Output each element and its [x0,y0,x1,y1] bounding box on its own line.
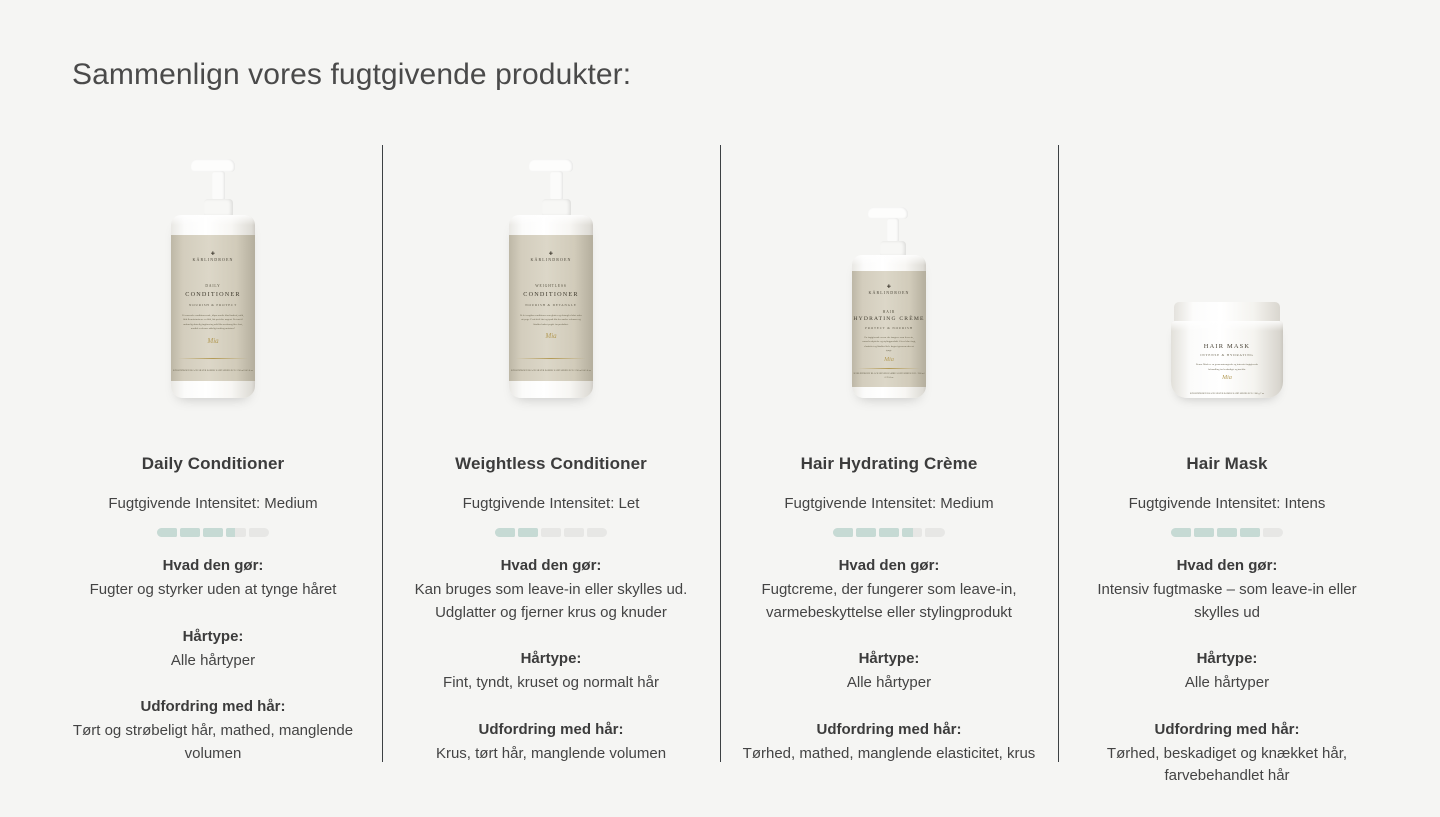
field-value: Alle hårtyper [1058,672,1396,695]
intensity-segment [564,528,584,537]
label-body-text: En fugtgivende creme der fungerer som le… [862,336,917,354]
field-label: Hvad den gør: [382,557,720,574]
intensity-segment [226,528,246,537]
field-value: Kan bruges som leave-in eller skylles ud… [382,579,720,624]
field-label: Hvad den gør: [44,557,382,574]
field-label: Hårtype: [720,650,1058,667]
label-footer: KÄRLINDROEN BLACK SILVER BAMBU SAND SERI… [509,370,593,374]
intensity-segment [1240,528,1260,537]
field-hair-type: Hårtype: Alle hårtyper [44,628,382,673]
field-hair-challenge: Udfordring med hår: Tørhed, mathed, mang… [720,721,1058,766]
intensity-segment [902,528,922,537]
label-body-text: Denne Mask er en gennemtrængende og inte… [1192,363,1261,372]
intensity-segment [879,528,899,537]
field-hair-challenge: Udfordring med hår: Tørt og strøbeligt h… [44,698,382,765]
intensity-text: Fugtgivende Intensitet: Let [463,495,640,512]
product-comparison-page: Sammenlign vores fugtgivende produkter: … [0,0,1440,817]
field-value: Alle hårtyper [720,672,1058,695]
label-line2: CONDITIONER [523,291,578,298]
product-column-hair-mask[interactable]: HAIR MASK INTENSE & HYDRATING Denne Mask… [1058,140,1396,788]
field-value: Fugtcreme, der fungerer som leave-in, va… [720,579,1058,624]
intensity-meter [1171,528,1283,537]
field-hair-challenge: Udfordring med hår: Krus, tørt hår, mang… [382,721,720,766]
field-what-it-does: Hvad den gør: Fugtcreme, der fungerer so… [720,557,1058,624]
product-column-daily-conditioner[interactable]: ✚ KÄRLINDROEN DAILY CONDITIONER NOURISH … [44,140,382,788]
intensity-segment [1263,528,1283,537]
column-divider [1058,145,1059,762]
field-label: Hvad den gør: [720,557,1058,574]
intensity-meter [157,528,269,537]
label-sub: NOURISH & PROTECT [189,303,237,307]
field-value: Tørhed, beskadiget og knækket hår, farve… [1058,743,1396,788]
intensity-segment [541,528,561,537]
intensity-segment [157,528,177,537]
label-line2: HYDRATING CRÈME [853,316,924,322]
label-line1: WEIGHTLESS [535,284,567,288]
field-hair-type: Hårtype: Alle hårtyper [720,650,1058,695]
column-divider [382,145,383,762]
label-body-text: Et let vægtløs conditioner som glatter o… [520,314,582,327]
field-hair-type: Hårtype: Fint, tyndt, kruset og normalt … [382,650,720,695]
intensity-segment [587,528,607,537]
label-signature: Mia [545,332,556,340]
field-label: Udfordring med hår: [382,721,720,738]
label-footer: KÄRLINDROEN BLACK SILVER BAMBU SAND SERI… [171,370,255,374]
intensity-segment [495,528,515,537]
label-signature: Mia [207,337,218,345]
intensity-segment [203,528,223,537]
page-title: Sammenlign vores fugtgivende produkter: [72,58,631,92]
label-footer: KÄRLINDROEN BLACK SILVER BAMBU SAND SERI… [1171,393,1283,397]
field-hair-challenge: Udfordring med hår: Tørhed, beskadiget o… [1058,721,1396,788]
product-image-hair-mask[interactable]: HAIR MASK INTENSE & HYDRATING Denne Mask… [1058,140,1396,402]
field-label: Udfordring med hår: [1058,721,1396,738]
field-value: Intensiv fugtmaske – som leave-in eller … [1058,579,1396,624]
product-column-hair-hydrating-creme[interactable]: ✚ KÄRLINDROEN HAIR HYDRATING CRÈME PROTE… [720,140,1058,788]
product-image-daily-conditioner[interactable]: ✚ KÄRLINDROEN DAILY CONDITIONER NOURISH … [44,140,382,402]
column-divider [720,145,721,762]
intensity-text: Fugtgivende Intensitet: Medium [108,495,317,512]
field-label: Hårtype: [44,628,382,645]
intensity-segment [856,528,876,537]
brand-name: KÄRLINDROEN [869,290,910,295]
field-what-it-does: Hvad den gør: Intensiv fugtmaske – som l… [1058,557,1396,624]
label-body-text: Et rensende conditionerende, tilpas nord… [182,314,244,332]
field-value: Tørhed, mathed, manglende elasticitet, k… [720,743,1058,766]
brand-name: KÄRLINDROEN [531,257,572,262]
product-image-weightless-conditioner[interactable]: ✚ KÄRLINDROEN WEIGHTLESS CONDITIONER NOU… [382,140,720,402]
product-columns: ✚ KÄRLINDROEN DAILY CONDITIONER NOURISH … [44,140,1396,788]
field-value: Krus, tørt hår, manglende volumen [382,743,720,766]
field-value: Alle hårtyper [44,650,382,673]
label-sub: INTENSE & HYDRATING [1200,353,1253,357]
intensity-segment [518,528,538,537]
intensity-text: Fugtgivende Intensitet: Medium [784,495,993,512]
field-value: Tørt og strøbeligt hår, mathed, manglend… [44,720,382,765]
field-label: Hvad den gør: [1058,557,1396,574]
product-column-weightless-conditioner[interactable]: ✚ KÄRLINDROEN WEIGHTLESS CONDITIONER NOU… [382,140,720,788]
label-footer: KÄRLINDROEN BLACK SILVER BAMBU SAND SERI… [852,373,926,381]
field-value: Fugter og styrker uden at tynge håret [44,579,382,602]
label-sub: PROTECT & NOURISH [865,326,913,330]
product-image-hair-hydrating-creme[interactable]: ✚ KÄRLINDROEN HAIR HYDRATING CRÈME PROTE… [720,140,1058,402]
field-hair-type: Hårtype: Alle hårtyper [1058,650,1396,695]
intensity-meter [833,528,945,537]
intensity-segment [1217,528,1237,537]
intensity-segment [1194,528,1214,537]
label-signature: Mia [884,357,894,363]
label-line2: CONDITIONER [185,291,240,298]
intensity-segment [925,528,945,537]
intensity-segment [180,528,200,537]
label-line1: DAILY [205,284,220,288]
field-label: Udfordring med hår: [44,698,382,715]
intensity-meter [495,528,607,537]
product-name: Weightless Conditioner [455,454,647,474]
product-name: Hair Hydrating Crème [801,454,978,474]
field-value: Fint, tyndt, kruset og normalt hår [382,672,720,695]
field-label: Udfordring med hår: [720,721,1058,738]
intensity-text: Fugtgivende Intensitet: Intens [1129,495,1326,512]
field-what-it-does: Hvad den gør: Kan bruges som leave-in el… [382,557,720,624]
label-signature: Mia [1222,375,1232,381]
product-name: Hair Mask [1186,454,1267,474]
intensity-segment [833,528,853,537]
label-line1: HAIR [883,310,895,314]
field-label: Hårtype: [1058,650,1396,667]
field-label: Hårtype: [382,650,720,667]
intensity-segment [249,528,269,537]
label-line1: HAIR MASK [1204,343,1251,350]
product-name: Daily Conditioner [142,454,284,474]
field-what-it-does: Hvad den gør: Fugter og styrker uden at … [44,557,382,602]
intensity-segment [1171,528,1191,537]
label-sub: NOURISH & DETANGLE [525,303,576,307]
brand-name: KÄRLINDROEN [193,257,234,262]
